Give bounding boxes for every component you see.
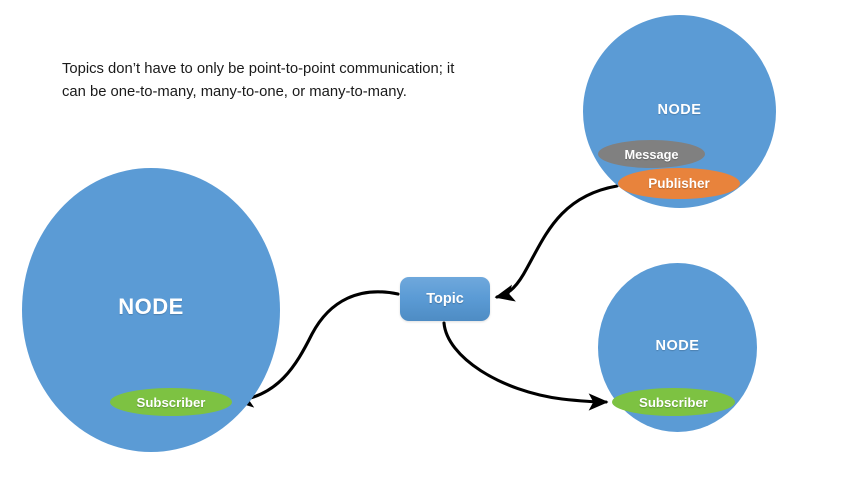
publisher-pill-label: Publisher: [648, 176, 710, 191]
node-label-left: NODE: [22, 294, 280, 320]
topic-box[interactable]: Topic: [400, 277, 490, 321]
message-pill[interactable]: Message: [598, 140, 705, 168]
subscriber-pill-right-label: Subscriber: [639, 395, 708, 410]
subscriber-pill-left[interactable]: Subscriber: [110, 388, 232, 416]
caption-text: Topics don’t have to only be point-to-po…: [62, 58, 482, 104]
topic-box-label: Topic: [426, 291, 464, 307]
node-label-bottom-right: NODE: [598, 338, 757, 354]
arrow-publisher-to-topic: [497, 186, 617, 297]
arrow-topic-to-subscriber-right: [444, 323, 606, 402]
subscriber-pill-left-label: Subscriber: [137, 395, 206, 410]
message-pill-label: Message: [624, 147, 678, 162]
publisher-pill[interactable]: Publisher: [618, 168, 740, 199]
subscriber-pill-right[interactable]: Subscriber: [612, 388, 735, 416]
node-label-top-right: NODE: [583, 102, 776, 118]
slide-canvas: Topics don’t have to only be point-to-po…: [0, 0, 854, 480]
